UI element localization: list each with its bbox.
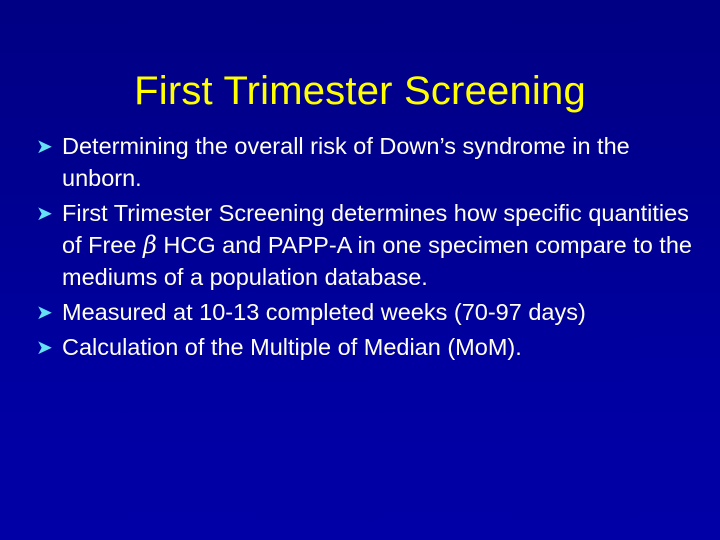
list-item-text-part: Measured at 10-13 completed weeks (70-97…: [62, 299, 586, 325]
list-item: ➤ Measured at 10-13 completed weeks (70-…: [30, 296, 708, 328]
list-item: ➤ First Trimester Screening determines h…: [30, 197, 708, 293]
list-item-text-part: HCG and PAPP-A in one specimen compare t…: [62, 232, 692, 290]
greek-beta-symbol: β: [143, 231, 157, 259]
list-item-text: Calculation of the Multiple of Median (M…: [62, 331, 708, 363]
list-item-text-part: Calculation of the Multiple of Median (M…: [62, 334, 522, 360]
arrow-bullet-icon: ➤: [36, 197, 56, 229]
list-item-text-part: Determining the overall risk of Down’s s…: [62, 133, 630, 191]
presentation-slide: First Trimester Screening ➤ Determining …: [0, 0, 720, 540]
arrow-bullet-icon: ➤: [36, 130, 56, 162]
page-title: First Trimester Screening: [0, 67, 720, 115]
list-item: ➤ Determining the overall risk of Down’s…: [30, 130, 708, 194]
list-item: ➤ Calculation of the Multiple of Median …: [30, 331, 708, 363]
list-item-text: Determining the overall risk of Down’s s…: [62, 130, 708, 194]
arrow-bullet-icon: ➤: [36, 296, 56, 328]
list-item-text: First Trimester Screening determines how…: [62, 197, 708, 293]
list-item-text: Measured at 10-13 completed weeks (70-97…: [62, 296, 708, 328]
arrow-bullet-icon: ➤: [36, 331, 56, 363]
bullet-list: ➤ Determining the overall risk of Down’s…: [30, 130, 708, 366]
